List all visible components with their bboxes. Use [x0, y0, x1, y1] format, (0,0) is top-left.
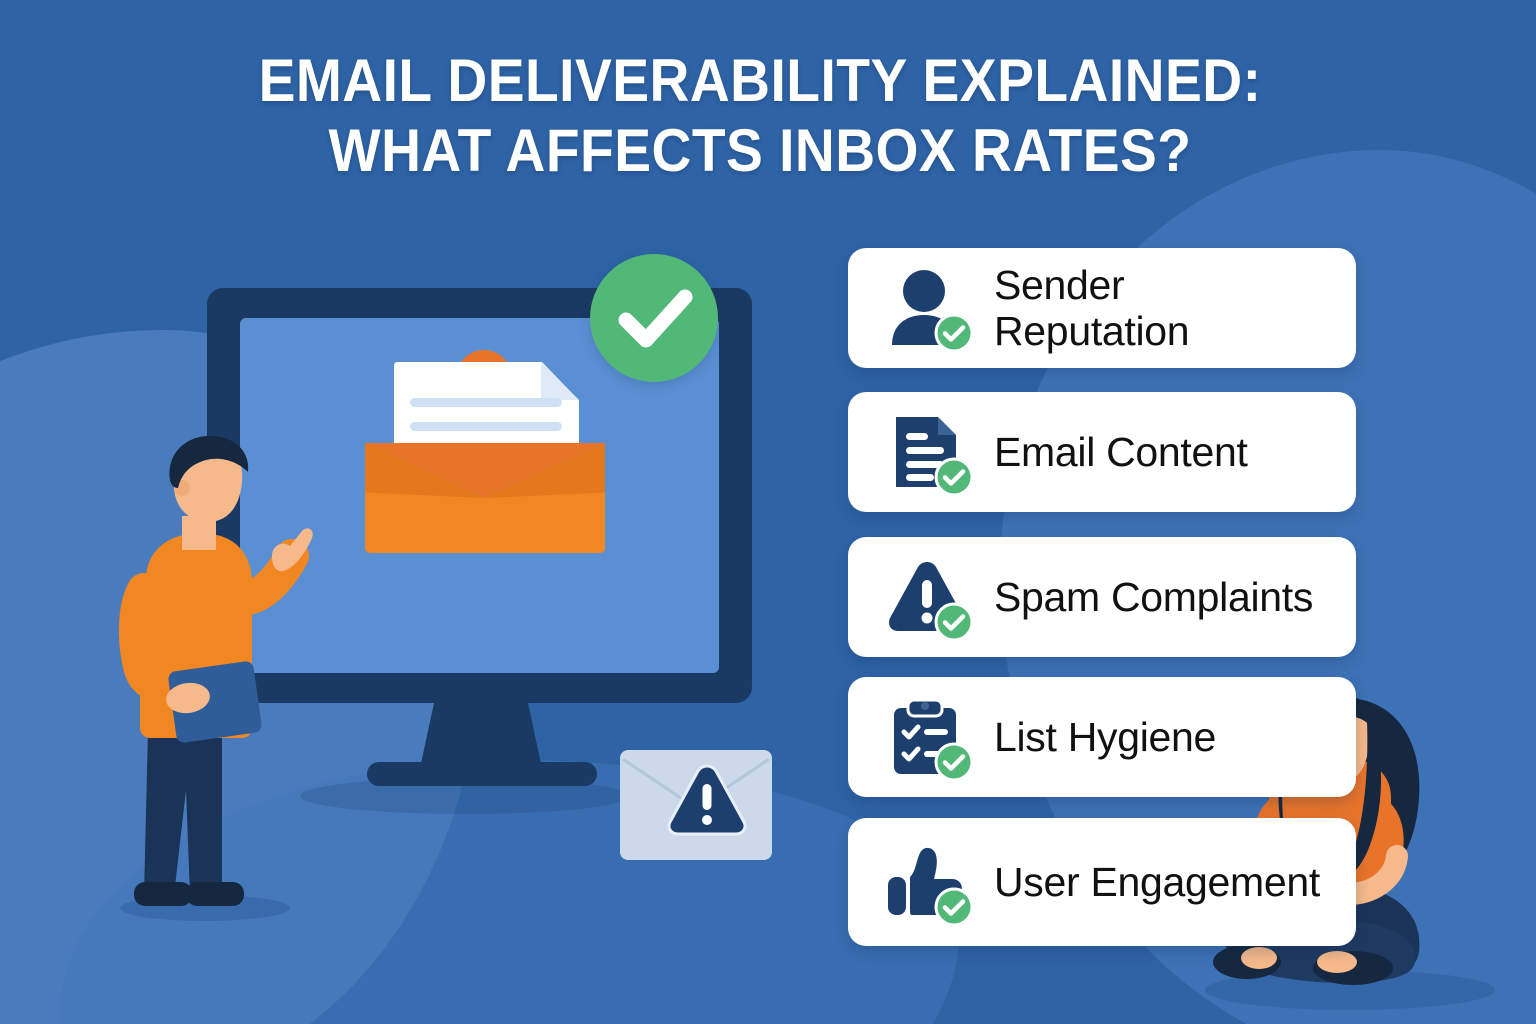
title-line-1: EMAIL DELIVERABILITY EXPLAINED:: [144, 46, 1377, 116]
factor-label: Spam Complaints: [994, 574, 1313, 620]
factor-card-list-hygiene[interactable]: List Hygiene: [848, 677, 1356, 797]
factor-card-sender-reputation[interactable]: Sender Reputation: [848, 248, 1356, 368]
man-pointing-with-tablet: [110, 430, 330, 930]
factor-label: List Hygiene: [994, 714, 1216, 760]
factor-label: Email Content: [994, 429, 1248, 475]
letter-text-line: [410, 398, 562, 407]
page-title: EMAIL DELIVERABILITY EXPLAINED: WHAT AFF…: [144, 46, 1377, 186]
check-badge-icon: [934, 457, 974, 497]
check-badge-icon: [934, 602, 974, 642]
check-badge-icon: [934, 887, 974, 927]
letter-text-line: [410, 422, 562, 431]
title-line-2: WHAT AFFECTS INBOX RATES?: [144, 116, 1377, 186]
monitor-base: [367, 762, 597, 786]
infographic-canvas: EMAIL DELIVERABILITY EXPLAINED: WHAT AFF…: [0, 0, 1536, 1024]
person-icon: [886, 267, 968, 349]
warning-triangle-icon: [886, 556, 968, 638]
thumbs-up-icon: [886, 841, 968, 923]
factor-card-spam-complaints[interactable]: Spam Complaints: [848, 537, 1356, 657]
factor-label: Sender Reputation: [994, 262, 1324, 354]
document-icon: [886, 411, 968, 493]
factor-card-user-engagement[interactable]: User Engagement: [848, 818, 1356, 946]
open-envelope-with-letter: [352, 350, 617, 620]
monitor-neck: [420, 700, 542, 768]
clipboard-checklist-icon: [886, 696, 968, 778]
factor-label: User Engagement: [994, 859, 1320, 905]
green-check-circle: [590, 254, 718, 382]
warning-triangle-icon: [666, 762, 748, 838]
factor-card-email-content[interactable]: Email Content: [848, 392, 1356, 512]
check-badge-icon: [934, 742, 974, 782]
check-badge-icon: [934, 313, 974, 353]
